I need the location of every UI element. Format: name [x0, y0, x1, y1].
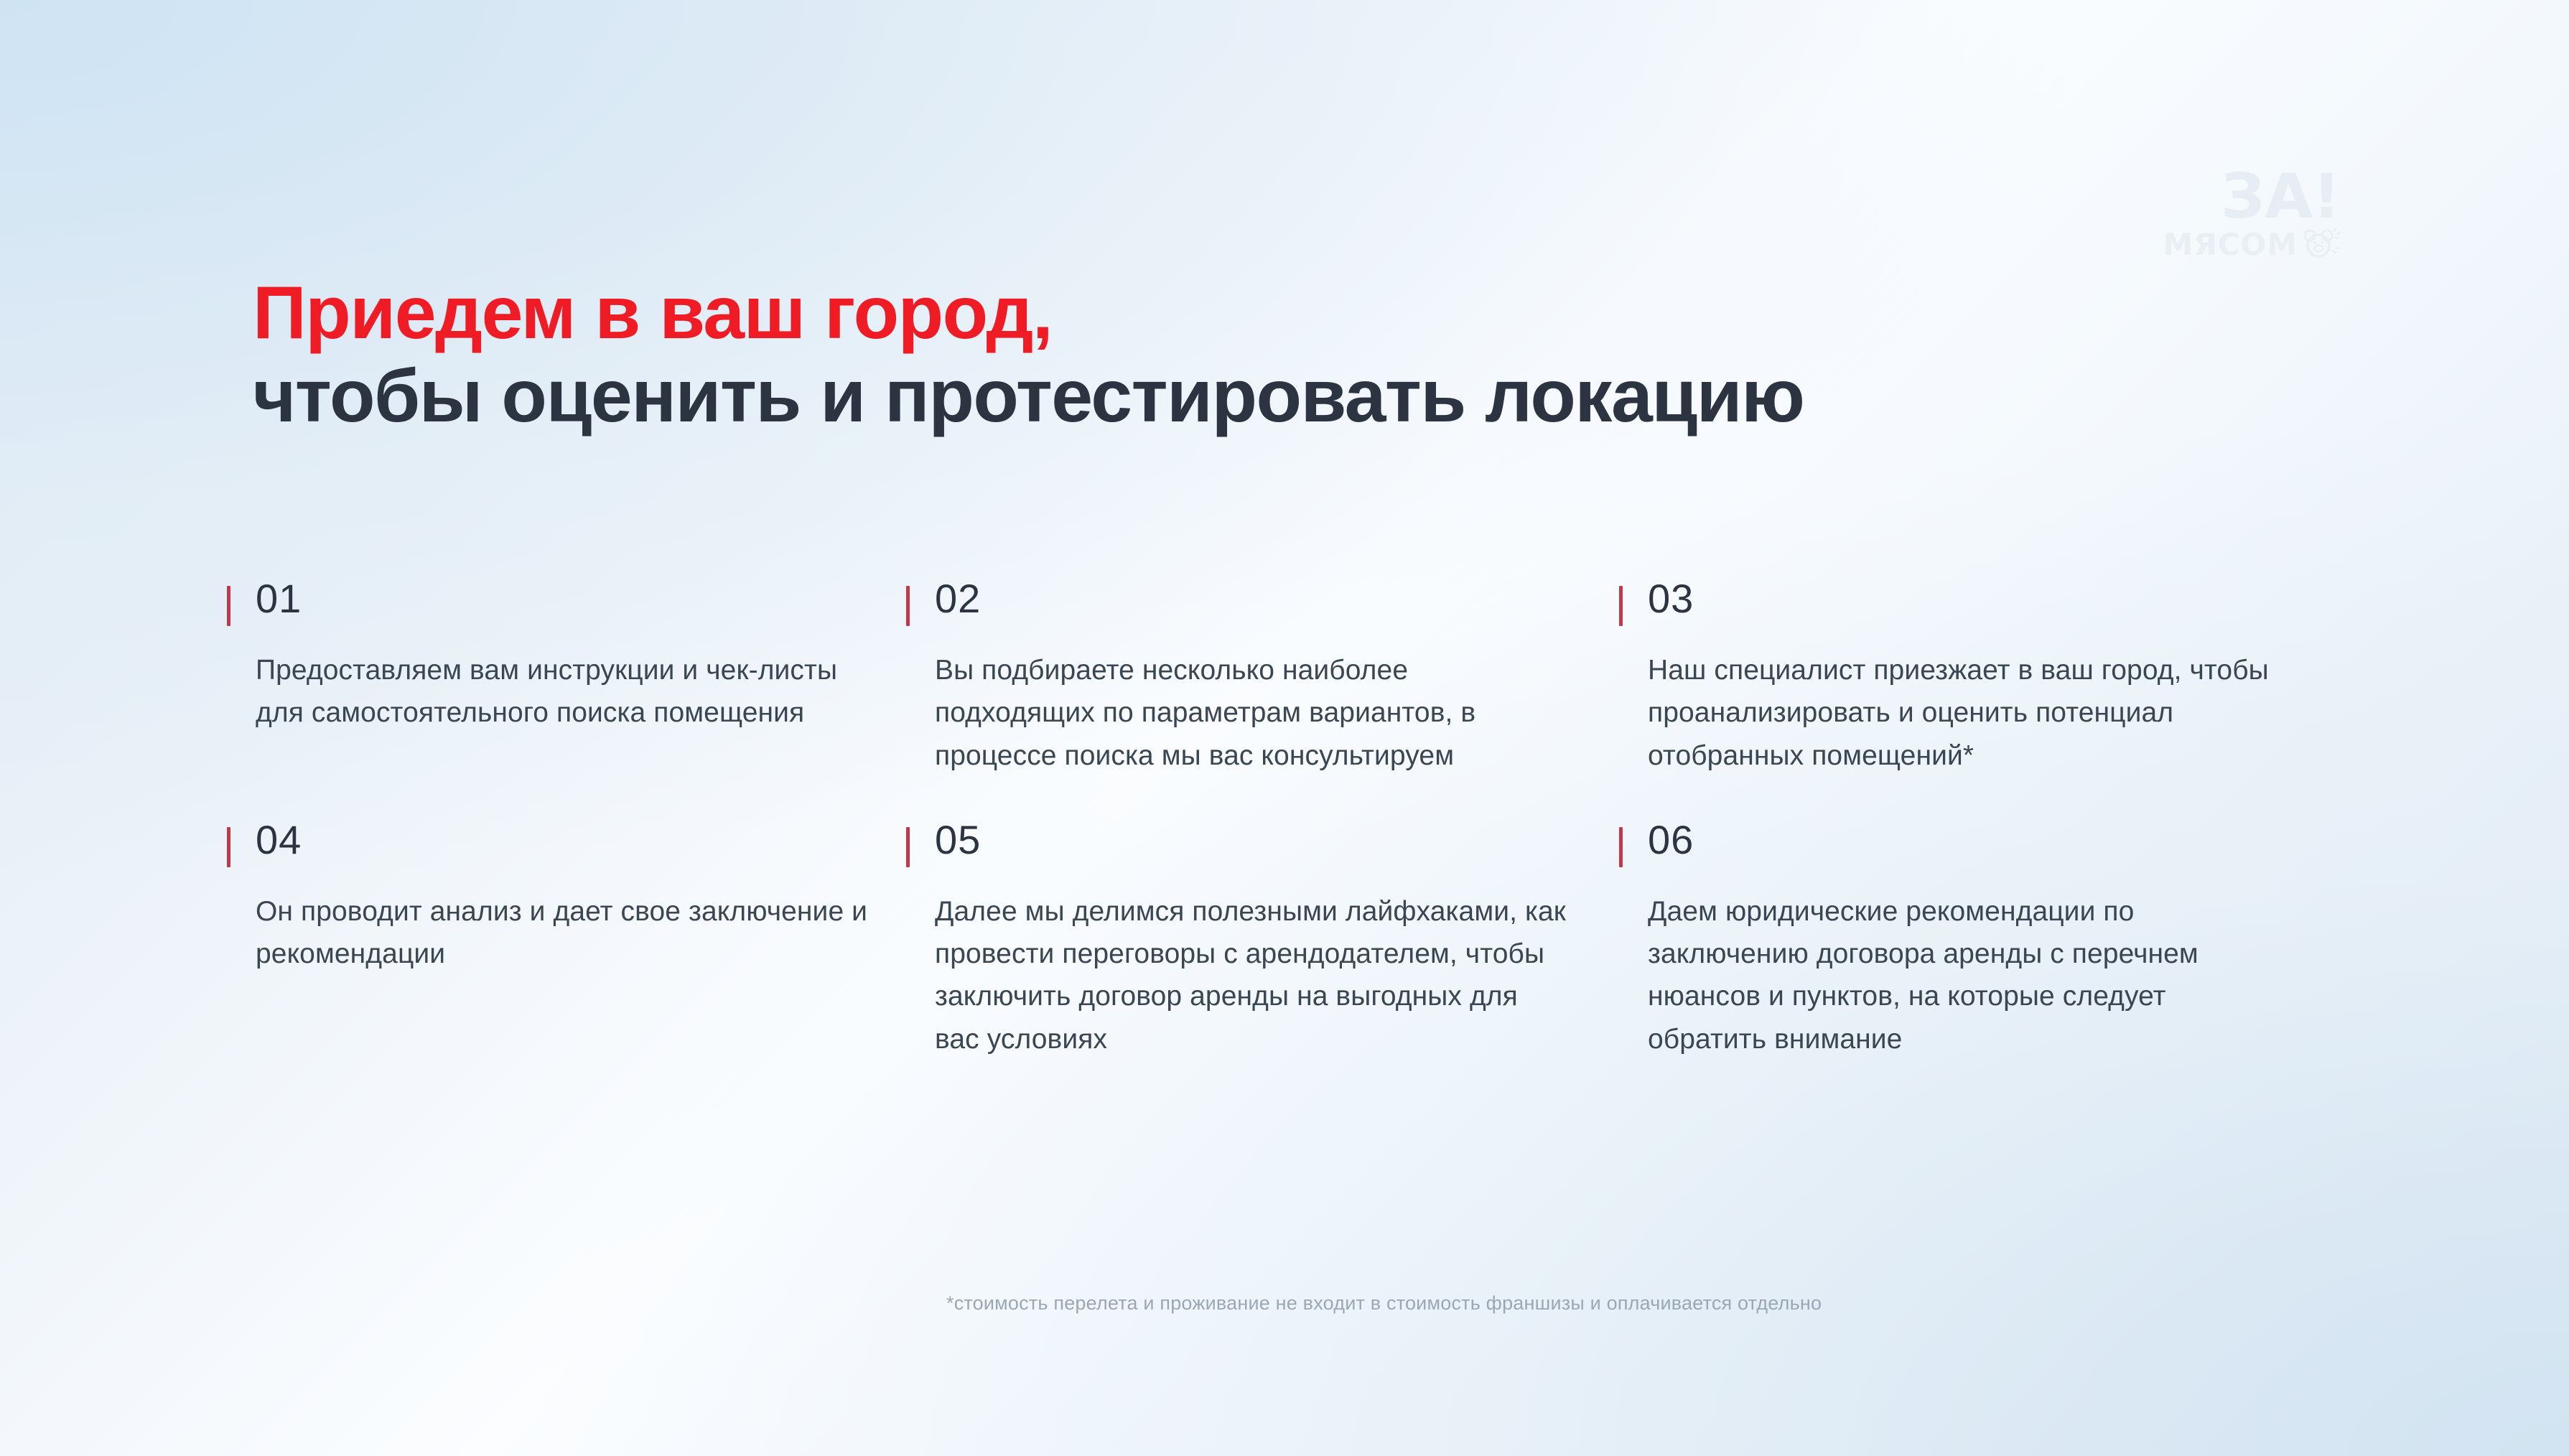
- step-number: 03: [1648, 579, 2337, 619]
- step-description: Предоставляем вам инструкции и чек-листы…: [256, 649, 873, 734]
- brand-logo-main: ЗА!: [2161, 171, 2341, 224]
- steps-grid: 01 Предоставляем вам инструкции и чек-ли…: [227, 579, 2367, 1060]
- step-number: 06: [1648, 820, 2337, 860]
- step-item: 03 Наш специалист приезжает в ваш город,…: [1619, 579, 2337, 777]
- brand-logo: ЗА! МЯСОМ: [2161, 171, 2341, 263]
- step-tick-marker: [906, 827, 910, 867]
- step-item: 02 Вы подбираете несколько наиболее подх…: [906, 579, 1619, 777]
- brand-logo-sub: МЯСОМ: [2163, 230, 2298, 260]
- step-description: Даем юридические рекомендации по заключе…: [1648, 890, 2280, 1060]
- step-number: 01: [256, 579, 906, 619]
- step-number: 02: [935, 579, 1619, 619]
- step-number: 05: [935, 820, 1619, 860]
- step-item: 05 Далее мы делимся полезными лайфхаками…: [906, 820, 1619, 1060]
- step-description: Далее мы делимся полезными лайфхаками, к…: [935, 890, 1567, 1060]
- footnote-disclaimer: *стоимость перелета и проживание не вход…: [946, 1290, 1822, 1317]
- step-number: 04: [256, 820, 906, 860]
- step-tick-marker: [227, 586, 230, 626]
- step-item: 04 Он проводит анализ и дает свое заключ…: [227, 820, 906, 1060]
- step-tick-marker: [1619, 827, 1623, 867]
- page-title-line-1: Приедем в ваш город,: [253, 271, 2443, 355]
- step-description: Он проводит анализ и дает свое заключени…: [256, 890, 873, 976]
- step-description: Наш специалист приезжает в ваш город, чт…: [1648, 649, 2280, 777]
- step-tick-marker: [906, 586, 910, 626]
- page-title-line-2: чтобы оценить и протестировать локацию: [253, 355, 2443, 438]
- page-title: Приедем в ваш город, чтобы оценить и про…: [253, 271, 2443, 439]
- step-tick-marker: [227, 827, 230, 867]
- brand-logo-sub-row: МЯСОМ: [2161, 227, 2341, 263]
- step-tick-marker: [1619, 586, 1623, 626]
- step-description: Вы подбираете несколько наиболее подходя…: [935, 649, 1567, 777]
- step-item: 01 Предоставляем вам инструкции и чек-ли…: [227, 579, 906, 777]
- step-item: 06 Даем юридические рекомендации по закл…: [1619, 820, 2337, 1060]
- bear-face-icon: [2303, 227, 2341, 263]
- slide-root: ЗА! МЯСОМ Приедем в ваш город, чтобы оце…: [0, 0, 2569, 1456]
